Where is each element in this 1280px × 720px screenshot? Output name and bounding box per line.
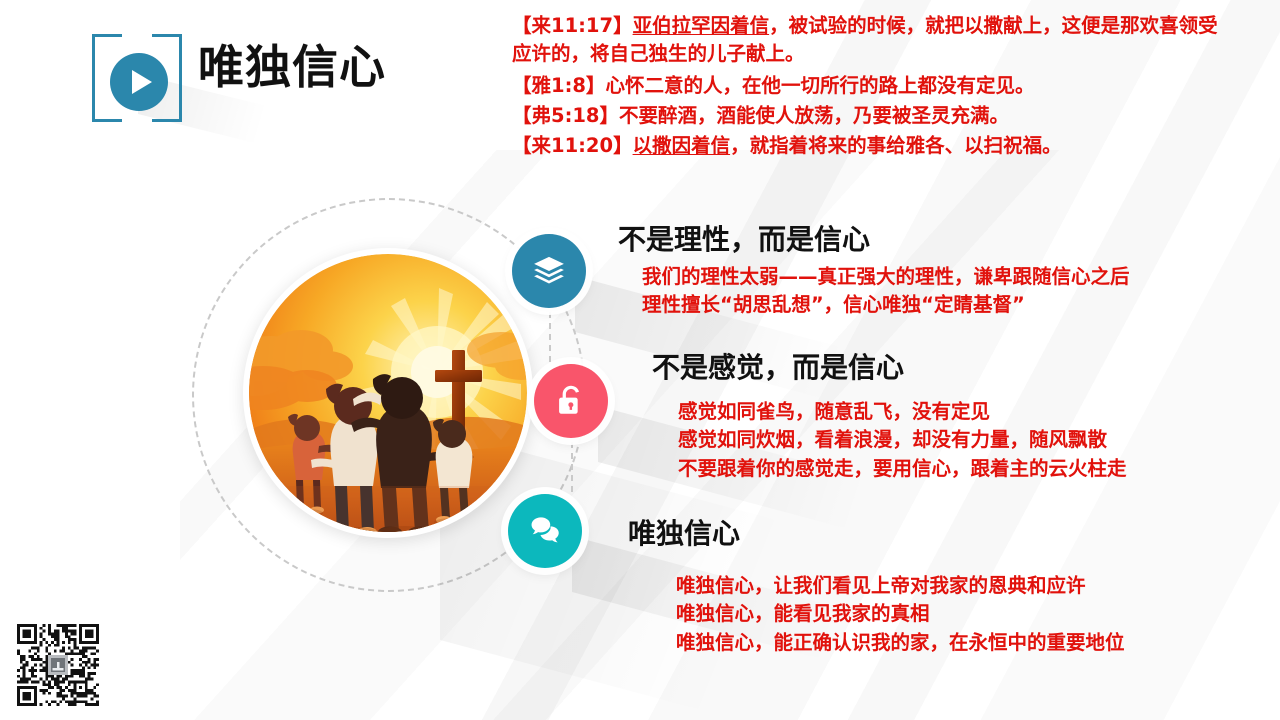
layers-icon[interactable] <box>512 234 586 308</box>
verse-reference: 【雅1:8】 <box>512 74 605 97</box>
block-heading: 不是理性，而是信心 <box>618 224 1130 256</box>
verse-reference: 【弗5:18】 <box>512 104 619 127</box>
play-triangle-icon <box>132 70 152 94</box>
block-line: 感觉如同雀鸟，随意乱飞，没有定见 <box>678 398 1127 426</box>
verse-item: 【弗5:18】不要醉酒，酒能使人放荡，乃要被圣灵充满。 <box>512 102 1218 130</box>
verse-text: 心怀二意的人，在他一切所行的路上都没有定见。 <box>605 74 1034 97</box>
verse-reference: 【来11:17】 <box>512 14 633 37</box>
block-lines: 感觉如同雀鸟，随意乱飞，没有定见 感觉如同炊烟，看着浪漫，却没有力量，随风飘散 … <box>678 398 1127 483</box>
block-line: 唯独信心，能正确认识我的家，在永恒中的重要地位 <box>676 629 1125 657</box>
block-line: 理性擅长“胡思乱想”，信心唯独“定睛基督” <box>642 291 1130 319</box>
badge-connector-line <box>571 442 573 492</box>
page-title: 唯独信心 <box>198 44 386 90</box>
verse-item: 【来11:17】亚伯拉罕因着信，被试验的时候，就把以撒献上，这便是那欢喜领受应许… <box>512 12 1218 67</box>
verse-text: 不要醉酒，酒能使人放荡，乃要被圣灵充满。 <box>619 104 1009 127</box>
verse-underlined-text: 亚伯拉罕因着信 <box>633 14 770 37</box>
scripture-list: 【来11:17】亚伯拉罕因着信，被试验的时候，就把以撒献上，这便是那欢喜领受应许… <box>512 12 1218 161</box>
logo-block: 唯独信心 <box>88 22 388 132</box>
block-line: 不要跟着你的感觉走，要用信心，跟着主的云火柱走 <box>678 455 1127 483</box>
chat-bubbles-icon[interactable] <box>508 494 582 568</box>
verse-underlined-text: 以撒因着信 <box>633 134 731 157</box>
verse-item: 【雅1:8】心怀二意的人，在他一切所行的路上都没有定见。 <box>512 72 1218 100</box>
block-heading: 唯独信心 <box>628 518 1125 550</box>
block-line: 我们的理性太弱——真正强大的理性，谦卑跟随信心之后 <box>642 263 1130 291</box>
slide-canvas: 唯独信心 【来11:17】亚伯拉罕因着信，被试验的时候，就把以撒献上，这便是那欢… <box>0 0 1280 720</box>
content-block-3: 唯独信心 唯独信心，让我们看见上帝对我家的恩典和应许 唯独信心，能看见我家的真相… <box>628 518 1125 657</box>
block-lines: 唯独信心，让我们看见上帝对我家的恩典和应许 唯独信心，能看见我家的真相 唯独信心… <box>676 572 1125 657</box>
content-block-2: 不是感觉，而是信心 感觉如同雀鸟，随意乱飞，没有定见 感觉如同炊烟，看着浪漫，却… <box>652 352 1127 483</box>
block-lines: 我们的理性太弱——真正强大的理性，谦卑跟随信心之后 理性擅长“胡思乱想”，信心唯… <box>642 263 1130 320</box>
verse-reference: 【来11:20】 <box>512 134 633 157</box>
verse-item: 【来11:20】以撒因着信，就指着将来的事给雅各、以扫祝福。 <box>512 132 1218 160</box>
content-block-1: 不是理性，而是信心 我们的理性太弱——真正强大的理性，谦卑跟随信心之后 理性擅长… <box>618 224 1130 320</box>
block-heading: 不是感觉，而是信心 <box>652 352 1127 384</box>
verse-text: ，就指着将来的事给雅各、以扫祝福。 <box>730 134 1062 157</box>
badge-connector-line <box>549 312 551 362</box>
block-line: 唯独信心，让我们看见上帝对我家的恩典和应许 <box>676 572 1125 600</box>
block-line: 感觉如同炊烟，看着浪漫，却没有力量，随风飘散 <box>678 426 1127 454</box>
unlock-icon[interactable] <box>534 364 608 438</box>
play-icon[interactable] <box>110 53 168 111</box>
family-looking-at-cross-illustration <box>249 254 527 532</box>
qr-code[interactable] <box>16 624 100 706</box>
block-line: 唯独信心，能看见我家的真相 <box>676 600 1125 628</box>
